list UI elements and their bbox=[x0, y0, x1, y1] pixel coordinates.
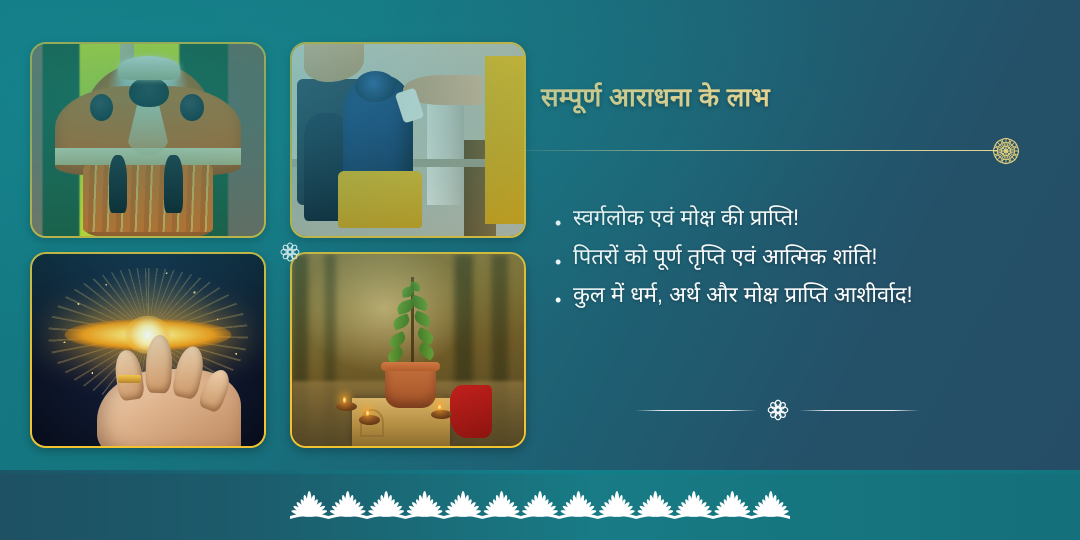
leaf bbox=[416, 342, 437, 362]
deity-right-leg bbox=[164, 155, 183, 213]
list-item: • पितरों को पूर्ण तृप्ति एवं आत्मिक शांत… bbox=[555, 241, 1050, 274]
photo-grid bbox=[30, 42, 526, 448]
lotus-border-icon bbox=[290, 482, 790, 522]
photo-glowing-sudarshan-chakra-on-hand[interactable] bbox=[30, 252, 266, 448]
deity-left-arm bbox=[90, 94, 113, 121]
deity-image-art bbox=[32, 44, 264, 236]
red-cloth bbox=[450, 385, 492, 439]
deity-face bbox=[129, 77, 168, 108]
chakra-image-art bbox=[32, 254, 264, 446]
content-panel: सम्पूर्ण आराधना के लाभ bbox=[525, 42, 1055, 442]
leaf bbox=[415, 327, 436, 346]
bullet-marker: • bbox=[555, 253, 573, 271]
diya-lamp bbox=[359, 415, 380, 425]
title-divider-line bbox=[525, 150, 997, 151]
footer-band bbox=[0, 470, 1080, 540]
deity-left-leg bbox=[109, 155, 128, 213]
terracotta-pot bbox=[385, 365, 436, 407]
list-item-text: स्वर्गलोक एवं मोक्ष की प्राप्ति! bbox=[573, 202, 799, 235]
diya-flame bbox=[343, 396, 346, 404]
flower-rosette-icon bbox=[278, 240, 302, 264]
photo-black-idol-abhishek-dressing[interactable] bbox=[290, 42, 526, 238]
tulsi-image-art bbox=[292, 254, 524, 446]
list-item: • स्वर्गलोक एवं मोक्ष की प्राप्ति! bbox=[555, 202, 1050, 235]
idol-head bbox=[355, 71, 397, 102]
leaf bbox=[392, 314, 412, 331]
slide-canvas: सम्पूर्ण आराधना के लाभ bbox=[0, 0, 1080, 540]
bullet-marker: • bbox=[555, 214, 573, 232]
divider-line-left bbox=[635, 410, 757, 411]
leaf bbox=[387, 331, 407, 349]
list-item-text: कुल में धर्म, अर्थ और मोक्ष प्राप्ति आशी… bbox=[573, 279, 913, 312]
list-item: • कुल में धर्म, अर्थ और मोक्ष प्राप्ति आ… bbox=[555, 279, 1050, 312]
benefits-list: • स्वर्गलोक एवं मोक्ष की प्राप्ति! • पित… bbox=[555, 202, 1050, 318]
diya-lamp bbox=[431, 410, 452, 420]
divider-line-right bbox=[799, 410, 921, 411]
photo-shrinathji-deity-idol[interactable] bbox=[30, 42, 266, 238]
flower-rosette-icon bbox=[765, 397, 791, 423]
bullet-marker: • bbox=[555, 291, 573, 309]
mandala-rosette-icon bbox=[990, 135, 1022, 167]
section-divider bbox=[635, 397, 920, 423]
deity-right-arm bbox=[180, 94, 203, 121]
yellow-cloth-drape bbox=[485, 56, 524, 225]
yellow-dhoti bbox=[338, 171, 422, 229]
finger-ring bbox=[118, 375, 141, 383]
tulsi-plant bbox=[380, 277, 445, 373]
photo-tulsi-plant-with-diyas[interactable] bbox=[290, 252, 526, 448]
deity-crown bbox=[118, 56, 181, 81]
list-item-text: पितरों को पूर्ण तृप्ति एवं आत्मिक शांति! bbox=[573, 241, 877, 274]
deity-skirt bbox=[83, 163, 213, 232]
page-title: सम्पूर्ण आराधना के लाभ bbox=[541, 78, 770, 114]
leaf bbox=[412, 310, 432, 328]
abhishek-image-art bbox=[292, 44, 524, 236]
